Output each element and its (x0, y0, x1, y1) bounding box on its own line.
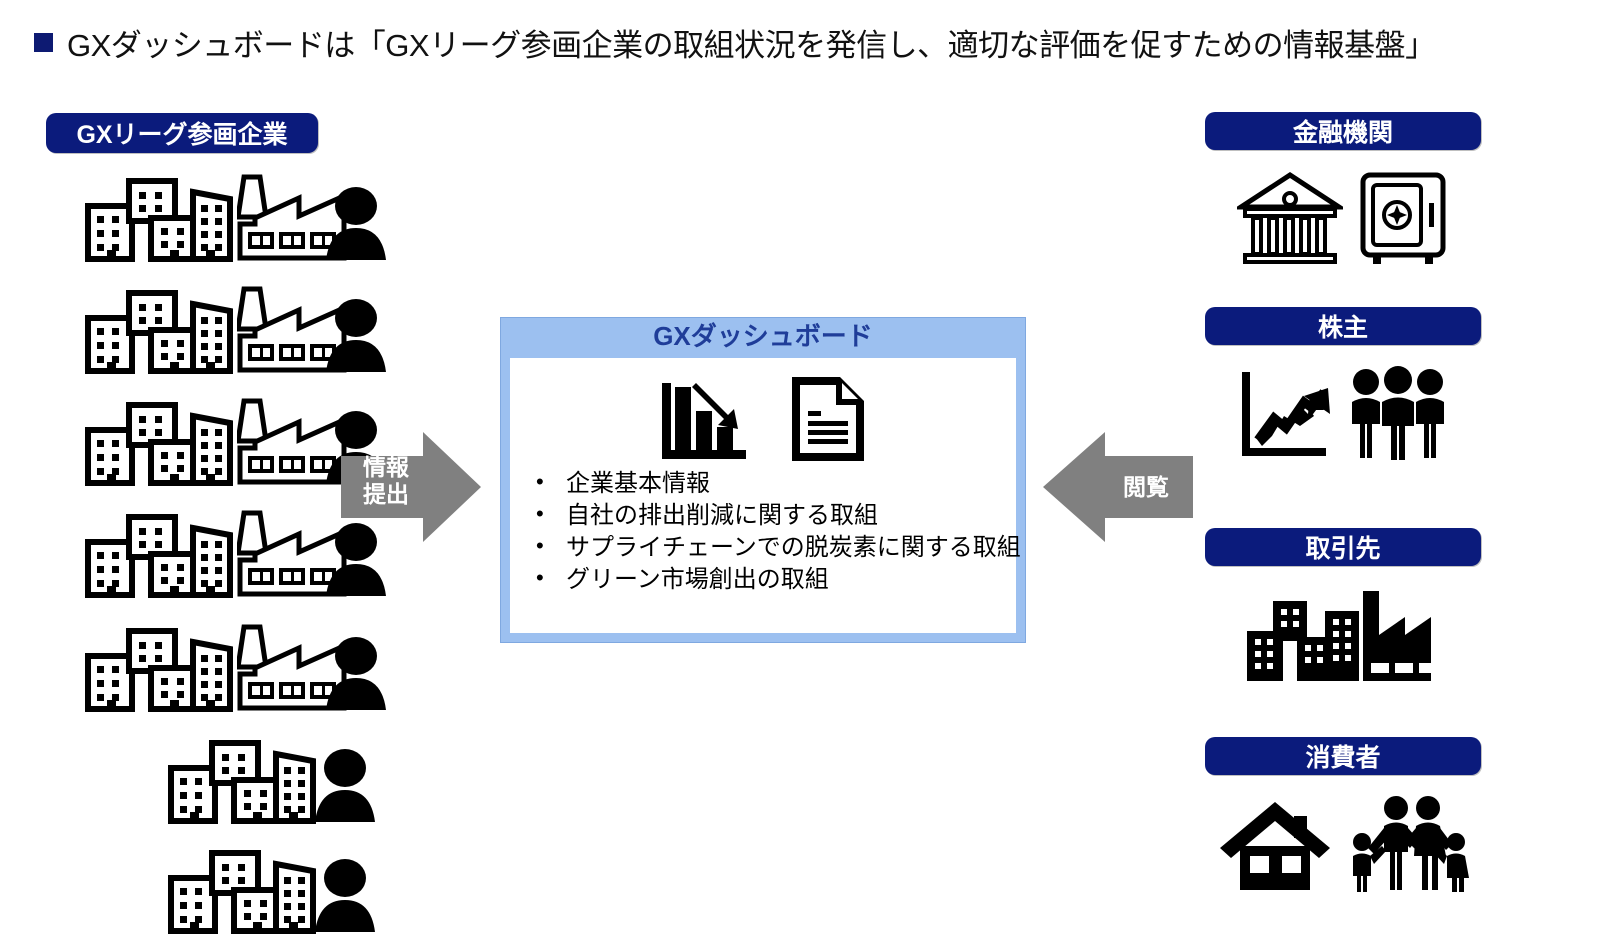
dashboard-body: 企業基本情報自社の排出削減に関する取組サプライチェーンでの脱炭素に関する取組グリ… (510, 358, 1016, 633)
dashboard-icon-row (510, 358, 1016, 460)
badge-gx-league-companies: GXリーグ参画企業 (46, 113, 318, 153)
stakeholder-shareholders: 株主 (1205, 307, 1481, 469)
person-icon (314, 852, 376, 934)
stakeholder-icon-row (1205, 359, 1481, 469)
buildings-icon (85, 290, 233, 374)
company-icon-row (168, 844, 376, 934)
person-icon (325, 292, 387, 374)
arrow-right-submit: 情報 提出 (341, 432, 481, 542)
square-bullet-icon (34, 33, 53, 52)
stakeholder-icon-row (1205, 789, 1481, 899)
safe-vault-icon (1357, 169, 1449, 269)
stakeholder-business-partners: 取引先 (1205, 528, 1481, 690)
badge-label: 金融機関 (1293, 113, 1393, 149)
bank-building-icon (1237, 169, 1343, 269)
page-title: GXダッシュボードは「GXリーグ参画企業の取組状況を発信し、適切な評価を促すため… (34, 20, 1436, 65)
buildings-factory-solid-icon (1243, 585, 1443, 685)
declining-bar-chart-icon (658, 373, 750, 465)
company-icon-row (85, 622, 387, 712)
company-icon-list (60, 172, 360, 932)
buildings-icon (85, 402, 233, 486)
company-icon-row (85, 172, 387, 262)
buildings-icon (85, 514, 233, 598)
stakeholder-icon-row (1205, 580, 1481, 690)
family-icon (1348, 794, 1470, 894)
dashboard-bullet-item: グリーン市場創出の取組 (528, 564, 1016, 596)
company-icon-row (85, 284, 387, 374)
buildings-icon (168, 850, 316, 934)
document-icon (788, 373, 868, 465)
stakeholder-consumers: 消費者 (1205, 737, 1481, 899)
badge-consumers: 消費者 (1205, 737, 1481, 775)
buildings-icon (85, 628, 233, 712)
badge-financial-institutions: 金融機関 (1205, 112, 1481, 150)
badge-label: GXリーグ参画企業 (76, 115, 287, 151)
dashboard-bullet-item: サプライチェーンでの脱炭素に関する取組 (528, 532, 1016, 564)
buildings-icon (85, 178, 233, 262)
page-title-text: GXダッシュボードは「GXリーグ参画企業の取組状況を発信し、適切な評価を促すため… (67, 20, 1436, 65)
badge-label: 取引先 (1305, 529, 1380, 565)
person-icon (325, 630, 387, 712)
badge-business-partners: 取引先 (1205, 528, 1481, 566)
company-icon-row (168, 734, 376, 824)
stakeholder-financial-institutions: 金融機関 (1205, 112, 1481, 274)
three-people-icon (1346, 366, 1450, 462)
person-icon (325, 180, 387, 262)
gx-dashboard-panel: GXダッシュボード (500, 317, 1026, 643)
buildings-icon (168, 740, 316, 824)
person-icon (314, 742, 376, 824)
badge-label: 消費者 (1305, 738, 1380, 774)
stakeholder-icon-row (1205, 164, 1481, 274)
growth-chart-icon (1236, 366, 1332, 462)
dashboard-header: GXダッシュボード (501, 318, 1025, 354)
dashboard-bullet-list: 企業基本情報自社の排出削減に関する取組サプライチェーンでの脱炭素に関する取組グリ… (528, 468, 1016, 596)
dashboard-bullet-item: 企業基本情報 (528, 468, 1016, 500)
arrow-left-view: 閲覧 (1043, 432, 1193, 542)
dashboard-bullet-item: 自社の排出削減に関する取組 (528, 500, 1016, 532)
badge-shareholders: 株主 (1205, 307, 1481, 345)
badge-label: 株主 (1318, 308, 1368, 344)
house-icon (1216, 794, 1334, 894)
